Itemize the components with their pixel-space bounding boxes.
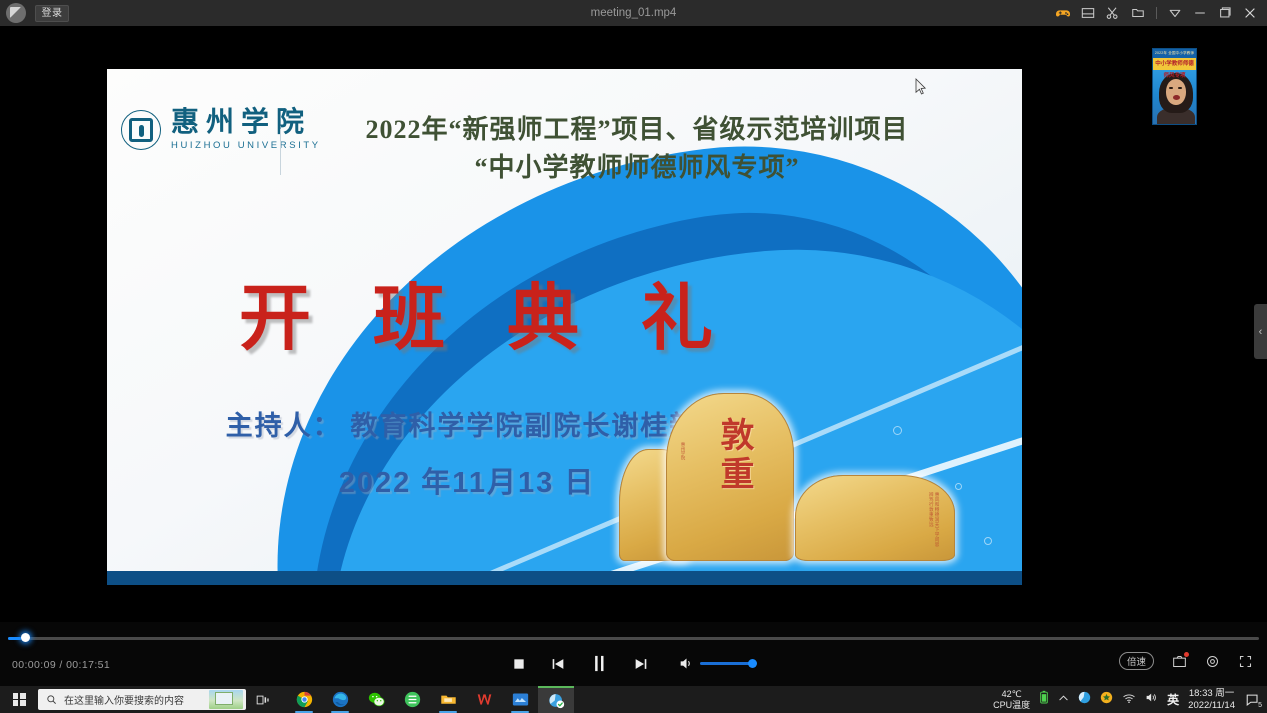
taskbar-app-chrome[interactable] — [286, 686, 322, 713]
search-icon — [46, 694, 57, 705]
clock[interactable]: 18:33 周一 2022/11/14 — [1188, 688, 1235, 711]
taskbar-app-player[interactable] — [538, 686, 574, 713]
stone-inscription-text: 惠风和畅德润天下学问思辨笃行敦重致远 — [868, 492, 940, 547]
folder-icon[interactable] — [1131, 6, 1145, 20]
taskbar-app-wps[interactable] — [466, 686, 502, 713]
start-button[interactable] — [0, 686, 38, 713]
stone-right: 惠风和畅德润天下学问思辨笃行敦重致远 — [795, 475, 955, 561]
webcam-sub-banner: 中小学教师师德师风专项 — [1153, 58, 1196, 70]
taskbar-app-explorer[interactable] — [430, 686, 466, 713]
previous-button[interactable] — [550, 656, 566, 672]
fullscreen-icon[interactable] — [1238, 654, 1253, 669]
volume-control[interactable] — [679, 656, 756, 671]
stone-monument-graphic: 敦重 惠州学院 惠风和畅德润天下学问思辨笃行敦重致远 — [619, 391, 1014, 571]
minimize-icon[interactable] — [1193, 6, 1207, 20]
game-controller-icon[interactable] — [1056, 6, 1070, 20]
screenshot-icon[interactable] — [1172, 654, 1187, 669]
windows-logo-icon — [13, 693, 26, 706]
playback-speed-button[interactable]: 倍速 — [1119, 652, 1154, 670]
seek-bar[interactable] — [8, 636, 1259, 640]
webcam-top-banner: 2022年 全国中小学教师培训 — [1153, 49, 1196, 58]
ime-indicator[interactable]: 英 — [1167, 691, 1179, 708]
notification-count: 5 — [1258, 702, 1262, 709]
notification-badge — [1184, 652, 1189, 657]
taskbar-apps — [286, 686, 574, 713]
tray-shield-icon[interactable] — [1100, 691, 1113, 709]
video-stage[interactable]: 惠州学院 HUIZHOU UNIVERSITY 2022年“新强师工程”项目、省… — [0, 26, 1267, 622]
volume-icon[interactable] — [679, 656, 694, 671]
divider — [1156, 7, 1157, 19]
clock-time: 18:33 周一 — [1189, 688, 1234, 699]
wifi-icon[interactable] — [1122, 691, 1136, 709]
video-player-window: 登录 meeting_01.mp4 — [0, 0, 1267, 713]
side-panel-toggle[interactable]: ‹ — [1254, 304, 1267, 359]
app-logo-icon[interactable] — [6, 3, 26, 23]
title-bar: 登录 meeting_01.mp4 — [0, 0, 1267, 26]
volume-tray-icon[interactable] — [1145, 691, 1158, 709]
title-bar-controls — [1056, 6, 1267, 20]
presentation-slide: 惠州学院 HUIZHOU UNIVERSITY 2022年“新强师工程”项目、省… — [107, 69, 1022, 585]
next-button[interactable] — [633, 656, 649, 672]
slide-bottom-bar — [107, 571, 1022, 585]
chevron-down-icon[interactable] — [1168, 6, 1182, 20]
search-placeholder: 在这里输入你要搜索的内容 — [64, 692, 184, 707]
cortana-icon[interactable] — [209, 690, 243, 709]
slide-title-line2: “中小学教师师德师风专项” — [277, 149, 997, 187]
tray-expand-chevron-icon[interactable] — [1058, 691, 1069, 709]
cpu-temp-label: CPU温度 — [993, 700, 1030, 710]
seek-progress-fill — [8, 637, 21, 640]
taskbar-app-edge[interactable] — [322, 686, 358, 713]
taskbar-app-wechat[interactable] — [358, 686, 394, 713]
taskbar-search-input[interactable]: 在这里输入你要搜索的内容 — [38, 689, 246, 710]
scissors-icon[interactable] — [1106, 6, 1120, 20]
close-icon[interactable] — [1243, 6, 1257, 20]
taskbar-app-blue[interactable] — [502, 686, 538, 713]
settings-gear-icon[interactable] — [1205, 654, 1220, 669]
player-right-controls: 倍速 — [1119, 652, 1253, 670]
player-control-bar: 00:00:09 / 00:17:51 — [0, 622, 1267, 686]
cpu-temperature-indicator[interactable]: 42℃ CPU温度 — [993, 689, 1030, 710]
task-view-button[interactable] — [246, 686, 280, 713]
seek-handle[interactable] — [21, 633, 30, 642]
maximize-icon[interactable] — [1218, 6, 1232, 20]
battery-icon[interactable] — [1039, 690, 1049, 710]
mouse-cursor — [915, 78, 927, 96]
presenter-webcam[interactable]: 2022年 全国中小学教师培训 中小学教师师德师风专项 — [1152, 48, 1197, 125]
window-split-icon[interactable] — [1081, 6, 1095, 20]
clock-date: 2022/11/14 — [1188, 700, 1235, 711]
system-tray: 42℃ CPU温度 英 18:33 周一 — [993, 688, 1267, 711]
stone-small-text: 惠州学院 — [680, 442, 686, 460]
windows-taskbar: 在这里输入你要搜索的内容 — [0, 686, 1267, 713]
university-emblem-icon — [121, 110, 161, 150]
pause-button[interactable] — [590, 654, 609, 673]
slide-title: 2022年“新强师工程”项目、省级示范培训项目 “中小学教师师德师风专项” — [277, 111, 997, 186]
taskbar-app-browser360[interactable] — [394, 686, 430, 713]
stone-engraved-text: 敦重 — [710, 417, 765, 495]
slide-title-line1: 2022年“新强师工程”项目、省级示范培训项目 — [277, 111, 997, 149]
stone-center: 敦重 惠州学院 — [666, 393, 794, 561]
playback-controls — [0, 654, 1267, 673]
volume-handle[interactable] — [748, 659, 757, 668]
notification-center-icon[interactable]: 5 — [1244, 691, 1261, 708]
login-button[interactable]: 登录 — [35, 5, 69, 22]
cpu-temp-value: 42℃ — [1002, 689, 1022, 699]
tray-browser-icon[interactable] — [1078, 691, 1091, 709]
seek-track[interactable] — [8, 637, 1259, 640]
slide-headline: 开 班 典 礼 — [237, 259, 737, 364]
volume-slider[interactable] — [700, 662, 756, 665]
stop-button[interactable] — [512, 657, 526, 671]
